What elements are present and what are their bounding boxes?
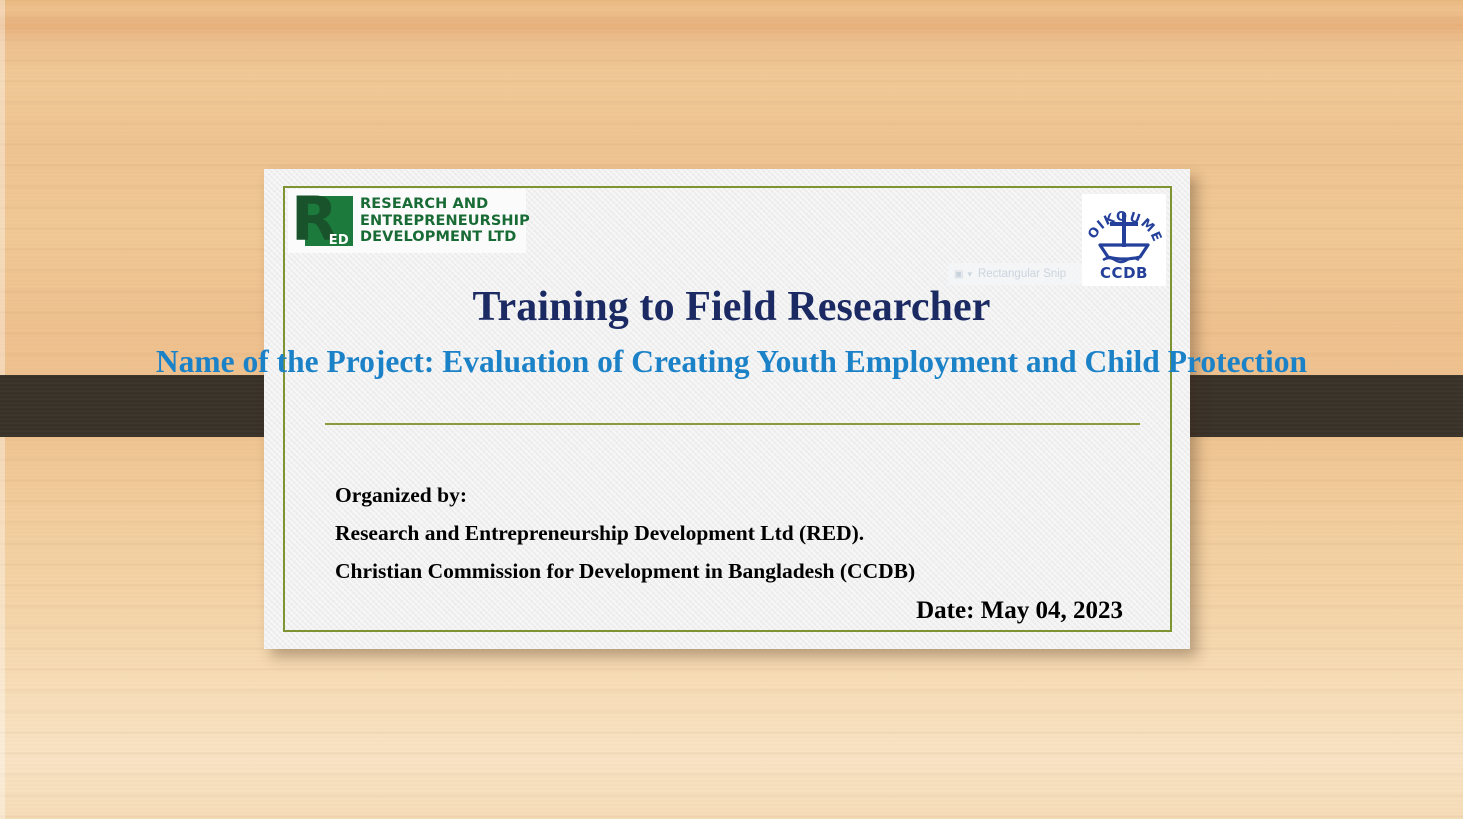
snip-camera-icon: ▣ (954, 269, 963, 280)
red-logo-line-1: RESEARCH AND (360, 196, 530, 213)
chevron-down-icon: ▾ (967, 269, 972, 280)
title-divider (325, 423, 1140, 425)
ccdb-emblem-icon: OIKOUMENE (1084, 195, 1164, 267)
organizer-red: Research and Entrepreneurship Developmen… (335, 521, 864, 546)
organizer-ccdb: Christian Commission for Development in … (335, 559, 915, 584)
ccdb-caption: CCDB (1100, 264, 1148, 282)
red-logo-line-3: DEVELOPMENT LTD (360, 229, 530, 246)
decorative-band-right (1163, 375, 1463, 437)
decorative-band-left (0, 375, 298, 437)
red-logo-ed-text: ED (329, 233, 349, 248)
red-logo-wordmark: RESEARCH AND ENTREPRENEURSHIP DEVELOPMEN… (360, 196, 530, 246)
slide-title: Training to Field Researcher (0, 283, 1463, 331)
slide-subtitle: Name of the Project: Evaluation of Creat… (60, 341, 1403, 383)
red-logo: R ED RESEARCH AND ENTREPRENEURSHIP DEVEL… (288, 189, 526, 253)
ccdb-logo: OIKOUMENE CCDB (1082, 194, 1166, 286)
snip-label: Rectangular Snip (978, 268, 1066, 280)
red-logo-mark-icon: R ED (291, 192, 353, 250)
slide-date: Date: May 04, 2023 (0, 597, 1123, 625)
rectangular-snip-overlay[interactable]: ▣ ▾ Rectangular Snip (948, 263, 1082, 285)
organized-by-label: Organized by: (335, 483, 467, 508)
red-logo-line-2: ENTREPRENEURSHIP (360, 213, 530, 230)
